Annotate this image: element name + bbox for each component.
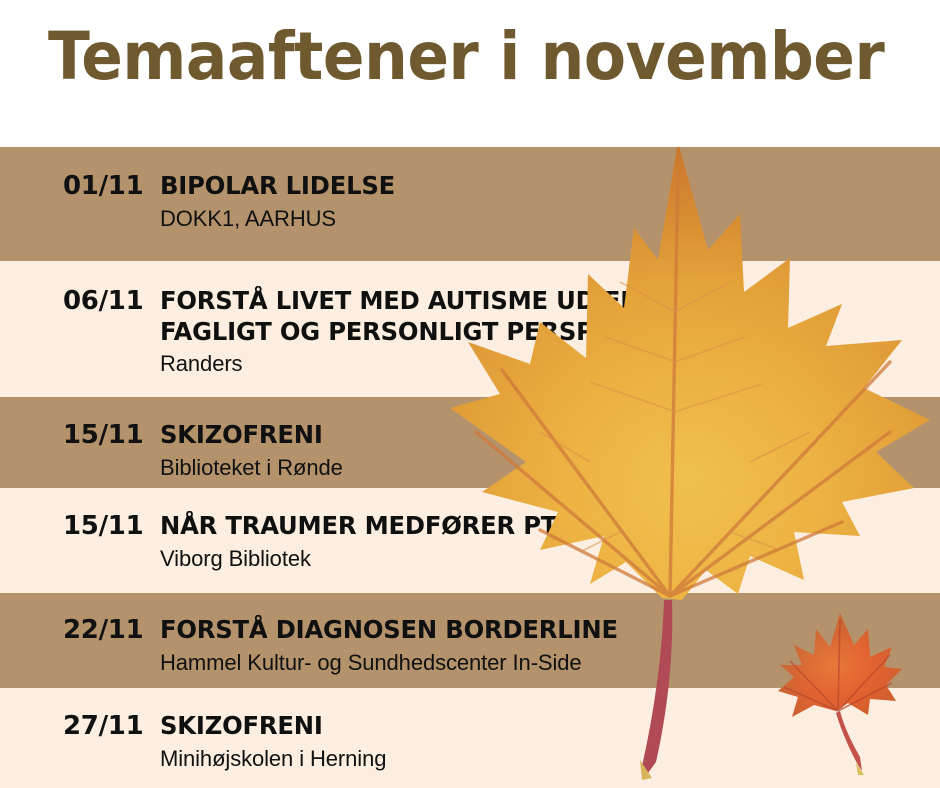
event-title: FORSTÅ LIVET MED AUTISME UD FRA ET FAGLI… — [160, 286, 907, 347]
table-row[interactable]: 15/11 NÅR TRAUMER MEDFØRER PTSD Viborg B… — [0, 488, 940, 593]
event-details: NÅR TRAUMER MEDFØRER PTSD Viborg Bibliot… — [160, 511, 940, 572]
event-schedule-list: 01/11 BIPOLAR LIDELSE DOKK1, AARHUS 06/1… — [0, 147, 940, 788]
event-title: FORSTÅ DIAGNOSEN BORDERLINE — [160, 615, 907, 646]
event-details: SKIZOFRENI Biblioteket i Rønde — [160, 420, 940, 481]
event-details: SKIZOFRENI Minihøjskolen i Herning — [160, 711, 940, 772]
event-title: NÅR TRAUMER MEDFØRER PTSD — [160, 511, 907, 542]
event-venue: Biblioteket i Rønde — [160, 455, 930, 481]
event-venue: Minihøjskolen i Herning — [160, 746, 930, 772]
poster-header: Temaaftener i november — [0, 0, 940, 147]
event-details: FORSTÅ LIVET MED AUTISME UD FRA ET FAGLI… — [160, 286, 940, 377]
event-title: SKIZOFRENI — [160, 420, 907, 451]
event-venue: Viborg Bibliotek — [160, 546, 930, 572]
event-date: 06/11 — [0, 286, 160, 316]
poster-canvas: Temaaftener i november — [0, 0, 940, 788]
event-venue: DOKK1, AARHUS — [160, 206, 930, 232]
event-venue: Hammel Kultur- og Sundhedscenter In-Side — [160, 650, 930, 676]
table-row[interactable]: 15/11 SKIZOFRENI Biblioteket i Rønde — [0, 397, 940, 488]
table-row[interactable]: 27/11 SKIZOFRENI Minihøjskolen i Herning — [0, 688, 940, 788]
event-date: 15/11 — [0, 420, 160, 450]
event-title: BIPOLAR LIDELSE — [160, 171, 907, 202]
event-details: BIPOLAR LIDELSE DOKK1, AARHUS — [160, 171, 940, 232]
event-date: 22/11 — [0, 615, 160, 645]
page-title: Temaaftener i november — [48, 24, 884, 90]
table-row[interactable]: 22/11 FORSTÅ DIAGNOSEN BORDERLINE Hammel… — [0, 593, 940, 688]
table-row[interactable]: 06/11 FORSTÅ LIVET MED AUTISME UD FRA ET… — [0, 261, 940, 397]
event-venue: Randers — [160, 351, 930, 377]
event-date: 15/11 — [0, 511, 160, 541]
event-title: SKIZOFRENI — [160, 711, 907, 742]
event-date: 27/11 — [0, 711, 160, 741]
event-details: FORSTÅ DIAGNOSEN BORDERLINE Hammel Kultu… — [160, 615, 940, 676]
event-date: 01/11 — [0, 171, 160, 201]
table-row[interactable]: 01/11 BIPOLAR LIDELSE DOKK1, AARHUS — [0, 147, 940, 261]
